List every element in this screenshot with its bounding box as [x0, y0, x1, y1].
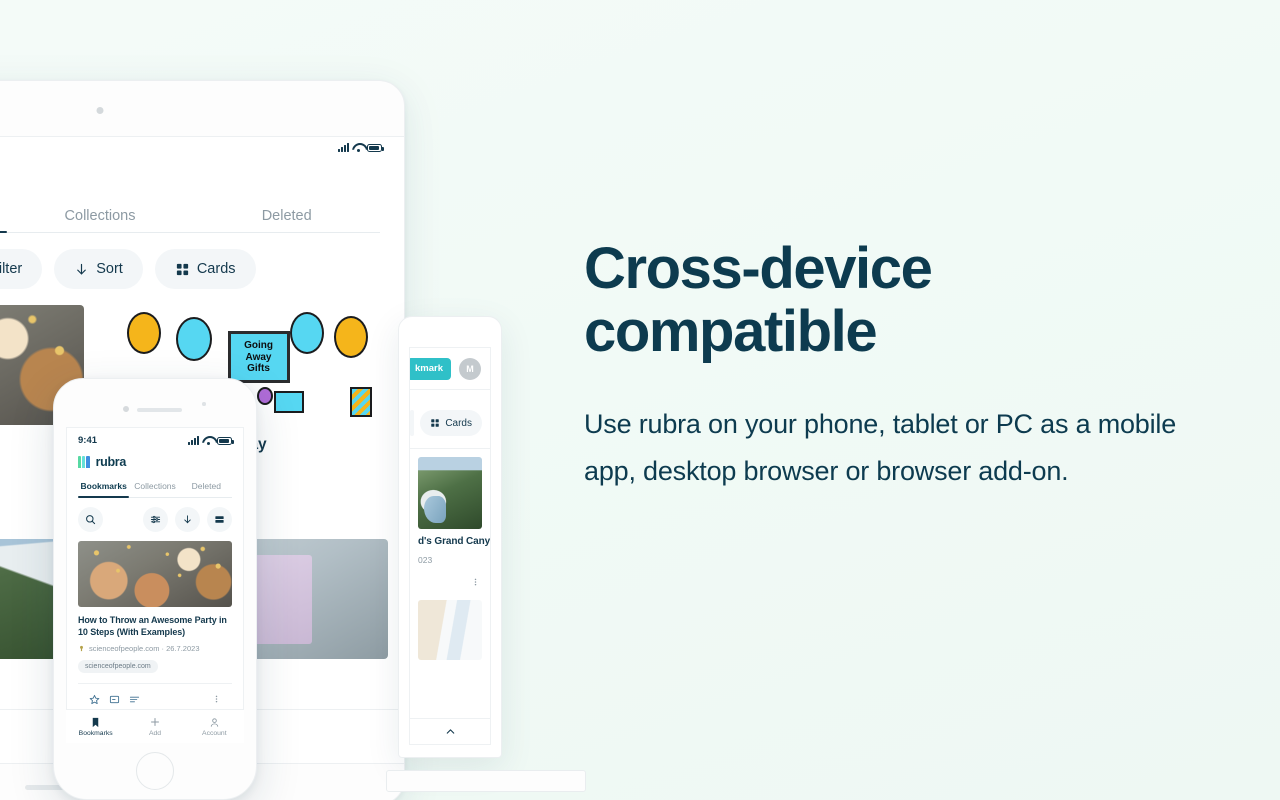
balloon-icon: [176, 317, 212, 361]
note-icon[interactable]: [109, 694, 120, 705]
sort-down-icon: [182, 514, 193, 525]
tab-deleted[interactable]: Deleted: [193, 208, 380, 232]
tab-bookmarks[interactable]: Bookmarks: [78, 481, 129, 497]
thumbnail-image: [418, 457, 482, 529]
thumbnail-image: [78, 541, 232, 607]
filter-icon: [150, 514, 161, 525]
source-chip: scienceofpeople.com: [78, 660, 158, 673]
view-toggle-button[interactable]: [207, 507, 232, 532]
plus-icon: [149, 716, 161, 728]
tablet-header: rubra Bookmarks Collections Deleted: [0, 152, 404, 233]
thumbnail-image: [418, 600, 482, 660]
card-title: d's Grand Canyon |: [418, 536, 482, 549]
tab-collections[interactable]: Collections: [7, 208, 194, 232]
bookmark-icon: [90, 717, 101, 728]
sort-button[interactable]: [175, 507, 200, 532]
nav-label: Add: [149, 730, 161, 737]
search-icon: [85, 514, 96, 525]
gift-box-icon: [274, 391, 304, 413]
balloon-icon: [257, 387, 273, 405]
balloon-icon: [290, 312, 324, 354]
favicon-icon: [78, 645, 85, 652]
desktop-screen: kmark M Cards d's Grand Canyon | 023: [409, 347, 491, 745]
add-bookmark-button[interactable]: kmark: [409, 358, 451, 380]
avatar[interactable]: M: [459, 358, 481, 380]
desktop-device: kmark M Cards d's Grand Canyon | 023: [398, 316, 502, 758]
desktop-footer[interactable]: [410, 718, 490, 744]
phone-bottom-nav: Bookmarks Add Account: [66, 709, 244, 743]
card-meta: 023: [418, 555, 482, 565]
battery-icon: [367, 144, 382, 152]
wifi-icon: [202, 436, 214, 445]
card-title: How to Throw an Awesome Party in 10 Step…: [78, 615, 232, 638]
signal-icon: [338, 143, 349, 152]
phone-speaker: [137, 408, 182, 412]
nav-account[interactable]: Account: [185, 710, 244, 743]
nav-label: Bookmarks: [79, 730, 113, 737]
grid-icon: [430, 418, 440, 428]
desktop-stand: [386, 770, 586, 792]
phone-sensor-icon: [202, 402, 206, 406]
filter-button[interactable]: [143, 507, 168, 532]
tab-deleted[interactable]: Deleted: [181, 481, 232, 497]
phone-camera-icon: [123, 406, 129, 412]
more-options-button[interactable]: [418, 565, 482, 600]
phone-device: 9:41 rubra Bookmarks: [53, 378, 257, 800]
balloon-icon: [127, 312, 161, 354]
grid-icon: [175, 262, 190, 277]
phone-header: rubra Bookmarks Collections Deleted: [67, 446, 243, 498]
tab-collections[interactable]: Collections: [129, 481, 180, 497]
desktop-toolbar: Cards: [410, 390, 490, 448]
tablet-tabbar: Bookmarks Collections Deleted: [0, 208, 380, 233]
phone-home-button[interactable]: [136, 752, 174, 790]
phone-toolbar: [67, 498, 243, 541]
heading-line-2: compatible: [584, 299, 876, 364]
star-icon[interactable]: [89, 694, 100, 705]
more-vertical-icon[interactable]: [212, 693, 221, 705]
logo-wordmark: rubra: [96, 455, 126, 469]
sort-label: Sort: [96, 261, 123, 277]
more-vertical-icon: [471, 575, 480, 589]
phone-tabbar: Bookmarks Collections Deleted: [78, 481, 232, 498]
phone-screen: 9:41 rubra Bookmarks: [66, 427, 244, 743]
page-title: Cross-device compatible: [584, 238, 1184, 363]
tablet-toolbar: ch Filter Sort: [0, 233, 404, 305]
chevron-up-icon: [444, 725, 457, 738]
marketing-copy: Cross-device compatible Use rubra on you…: [584, 238, 1184, 494]
gift-box-icon: [350, 387, 372, 417]
filter-button[interactable]: Filter: [0, 249, 42, 289]
nav-bookmarks[interactable]: Bookmarks: [66, 710, 125, 743]
wifi-icon: [352, 143, 364, 152]
card-meta: scienceofpeople.com · 26.7.2023: [78, 644, 232, 653]
battery-icon: [217, 437, 232, 445]
tab-bookmarks[interactable]: Bookmarks: [0, 208, 7, 232]
status-time: 9:41: [78, 435, 97, 446]
sort-button[interactable]: [410, 410, 414, 436]
sort-button[interactable]: Sort: [54, 249, 143, 289]
summary-icon[interactable]: [129, 694, 140, 705]
going-away-gifts-sign: Going Away Gifts: [228, 331, 290, 383]
card-actions: [78, 683, 232, 705]
signal-icon: [188, 436, 199, 445]
sort-down-icon: [74, 262, 89, 277]
page-root: rubra Bookmarks Collections Deleted ch F…: [0, 0, 1280, 800]
view-cards-button[interactable]: Cards: [420, 410, 482, 436]
view-label: Cards: [445, 418, 472, 429]
table-row[interactable]: d's Grand Canyon | 023: [410, 448, 490, 660]
marketing-body: Use rubra on your phone, tablet or PC as…: [584, 401, 1184, 494]
view-cards-button[interactable]: Cards: [155, 249, 256, 289]
app-logo[interactable]: rubra: [0, 166, 380, 190]
balloon-icon: [334, 316, 368, 358]
tablet-statusbar: [0, 137, 404, 152]
person-icon: [209, 717, 220, 728]
tablet-camera-icon: [97, 107, 104, 114]
phone-statusbar: 9:41: [67, 428, 243, 446]
card-meta-text: scienceofpeople.com · 26.7.2023: [89, 644, 200, 653]
nav-label: Account: [202, 730, 227, 737]
heading-line-1: Cross-device: [584, 236, 931, 301]
list-item[interactable]: How to Throw an Awesome Party in 10 Step…: [67, 541, 243, 705]
list-view-icon: [214, 514, 225, 525]
desktop-header: kmark M: [410, 348, 490, 390]
filter-label: Filter: [0, 261, 22, 277]
search-button[interactable]: [78, 507, 103, 532]
nav-add[interactable]: Add: [125, 710, 184, 743]
view-label: Cards: [197, 261, 236, 277]
rubra-logo-icon: [78, 456, 90, 468]
app-logo[interactable]: rubra: [78, 455, 232, 469]
